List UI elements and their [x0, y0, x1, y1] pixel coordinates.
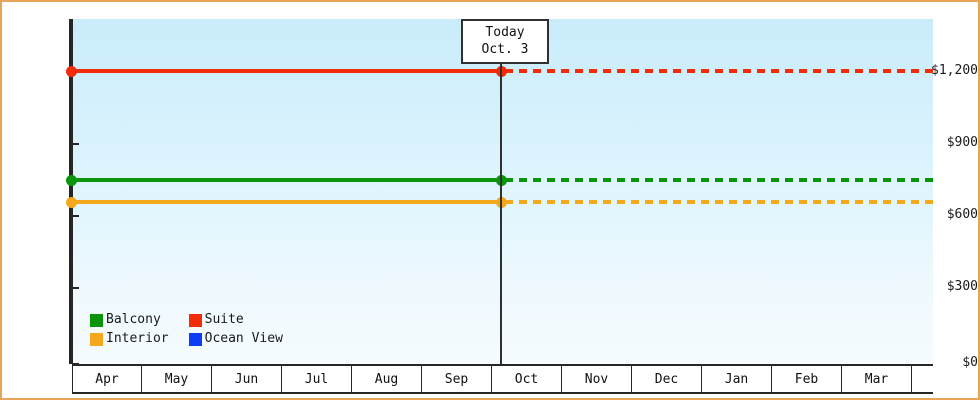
- today-callout-title: Today: [473, 24, 537, 41]
- x-axis-cell-overflow[interactable]: [912, 366, 933, 392]
- x-axis-cell-may[interactable]: May: [142, 366, 212, 392]
- x-axis-cell-jan[interactable]: Jan: [702, 366, 772, 392]
- legend-item-balcony[interactable]: Balcony: [90, 312, 169, 328]
- series-line-suite-forecast: [505, 69, 933, 73]
- x-axis-cell-jul[interactable]: Jul: [282, 366, 352, 392]
- price-history-chart: $1,200 $900 $600 $300 $0 Today Oct. 3 Ba…: [0, 0, 980, 400]
- y-axis-label-600: $600: [916, 208, 978, 221]
- series-line-suite-actual: [72, 69, 502, 73]
- legend-label-suite: Suite: [205, 312, 244, 328]
- chart-legend: Balcony Suite Interior Ocean View: [90, 312, 283, 347]
- y-tick-600: [73, 215, 79, 217]
- legend-label-balcony: Balcony: [106, 312, 161, 328]
- x-axis-cell-nov[interactable]: Nov: [562, 366, 632, 392]
- legend-swatch-ocean-view: [189, 333, 202, 346]
- series-line-interior-forecast: [505, 200, 933, 204]
- series-marker-suite-start: [66, 66, 77, 77]
- x-axis-cell-dec[interactable]: Dec: [632, 366, 702, 392]
- today-marker-line: [500, 60, 502, 364]
- x-axis-cell-aug[interactable]: Aug: [352, 366, 422, 392]
- legend-item-interior[interactable]: Interior: [90, 331, 169, 347]
- x-axis-cell-oct[interactable]: Oct: [492, 366, 562, 392]
- x-axis-cell-apr[interactable]: Apr: [72, 366, 142, 392]
- x-axis-month-band: Apr May Jun Jul Aug Sep Oct Nov Dec Jan …: [72, 364, 933, 394]
- legend-swatch-balcony: [90, 314, 103, 327]
- legend-item-ocean-view[interactable]: Ocean View: [189, 331, 283, 347]
- y-axis-label-300: $300: [916, 280, 978, 293]
- legend-label-ocean-view: Ocean View: [205, 331, 283, 347]
- x-axis-cell-mar[interactable]: Mar: [842, 366, 912, 392]
- y-tick-300: [73, 287, 79, 289]
- series-marker-interior-start: [66, 197, 77, 208]
- series-line-balcony-forecast: [505, 178, 933, 182]
- series-line-balcony-actual: [72, 178, 502, 182]
- legend-swatch-interior: [90, 333, 103, 346]
- legend-item-suite[interactable]: Suite: [189, 312, 283, 328]
- y-axis-label-900: $900: [916, 136, 978, 149]
- y-tick-900: [73, 143, 79, 145]
- series-marker-balcony-start: [66, 175, 77, 186]
- x-axis-cell-feb[interactable]: Feb: [772, 366, 842, 392]
- series-line-interior-actual: [72, 200, 502, 204]
- today-callout: Today Oct. 3: [461, 19, 549, 64]
- x-axis-cell-jun[interactable]: Jun: [212, 366, 282, 392]
- today-callout-date: Oct. 3: [473, 41, 537, 58]
- x-axis-cell-sep[interactable]: Sep: [422, 366, 492, 392]
- legend-swatch-suite: [189, 314, 202, 327]
- legend-label-interior: Interior: [106, 331, 169, 347]
